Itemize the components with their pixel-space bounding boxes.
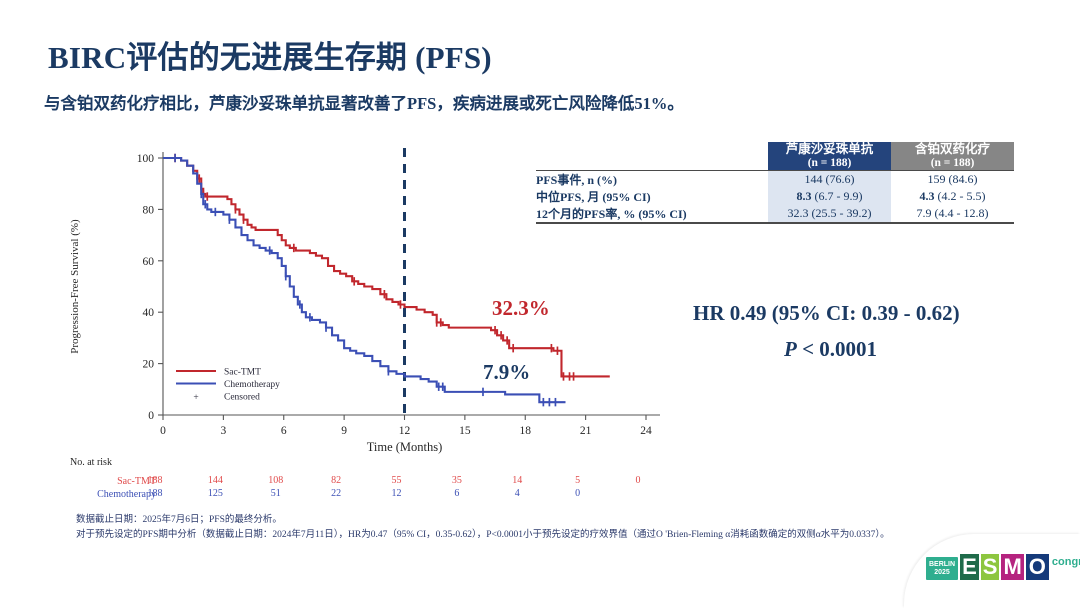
results-cell-sac: 32.3 (25.5 - 39.2)	[768, 205, 891, 223]
logo-letter-o: O	[1026, 554, 1049, 580]
results-row: 中位PFS, 月 (95% CI)8.3 (6.7 - 9.9)4.3 (4.2…	[536, 188, 1014, 205]
risk-value: 108	[268, 475, 283, 486]
y-tick-label: 80	[143, 204, 155, 216]
risk-value: 4	[515, 488, 520, 499]
results-header-blank	[536, 142, 768, 171]
x-axis-title: Time (Months)	[367, 440, 443, 454]
risk-value: 0	[575, 488, 580, 499]
logo-letter-e: E	[960, 554, 979, 580]
logo-congress-word: congress	[1052, 556, 1080, 568]
censored-plus-icon: +	[193, 393, 198, 403]
risk-value: 5	[575, 475, 580, 486]
y-tick-label: 40	[143, 307, 155, 319]
results-table: 芦康沙妥珠单抗(n = 188)含铂双药化疗(n = 188)PFS事件, n …	[536, 142, 1014, 224]
no-at-risk-table: Sac-TMT1881441088255351450Chemotherapy18…	[70, 475, 770, 501]
results-cell-sac: 144 (76.6)	[768, 171, 891, 189]
risk-table-title: No. at risk	[70, 457, 112, 468]
slide-root: BIRC评估的无进展生存期 (PFS) 与含铂双药化疗相比，芦康沙妥珠单抗显著改…	[0, 0, 1080, 608]
risk-value: 144	[208, 475, 223, 486]
results-row: PFS事件, n (%)144 (76.6)159 (84.6)	[536, 171, 1014, 189]
results-header-col-a: 芦康沙妥珠单抗(n = 188)	[768, 142, 891, 171]
risk-value: 0	[636, 475, 641, 486]
annotation-sac-12mo: 32.3%	[492, 296, 550, 321]
risk-value: 188	[148, 475, 163, 486]
risk-value: 35	[452, 475, 462, 486]
risk-row: Chemotherapy188125512212640	[70, 488, 770, 501]
x-tick-label: 12	[399, 425, 411, 437]
risk-value: 12	[392, 488, 402, 499]
x-tick-label: 18	[520, 425, 532, 437]
chart-legend: Sac-TMTChemotherapy+Censored	[176, 368, 280, 404]
y-tick-label: 20	[143, 359, 155, 371]
footnote-line-2: 对于预先设定的PFS期中分析（数据截止日期：2024年7月11日），HR为0.4…	[76, 528, 890, 543]
footnote-line-1: 数据截止日期：2025年7月6日；PFS的最终分析。	[76, 513, 890, 528]
x-tick-label: 15	[459, 425, 471, 437]
y-tick-label: 60	[143, 256, 155, 268]
risk-row: Sac-TMT1881441088255351450	[70, 475, 770, 488]
p-value-stat: P < 0.0001	[784, 337, 877, 362]
x-tick-label: 24	[640, 425, 652, 437]
x-tick-label: 6	[281, 425, 287, 437]
x-tick-label: 21	[580, 425, 592, 437]
col-b-name: 含铂双药化疗	[915, 142, 990, 156]
col-a-n: (n = 188)	[768, 157, 891, 171]
legend-label: Chemotherapy	[224, 380, 280, 390]
col-a-name: 芦康沙妥珠单抗	[786, 142, 874, 156]
results-row-label: 12个月的PFS率, % (95% CI)	[536, 205, 768, 223]
hazard-ratio-stat: HR 0.49 (95% CI: 0.39 - 0.62)	[693, 301, 960, 326]
results-cell-chemo: 159 (84.6)	[891, 171, 1014, 189]
chart-axis-labels: Time (Months)Progression-Free Survival (…	[69, 219, 442, 454]
logo-city: BERLIN	[929, 561, 955, 568]
results-cell-chemo: 7.9 (4.4 - 12.8)	[891, 205, 1014, 223]
risk-value: 82	[331, 475, 341, 486]
risk-value: 55	[392, 475, 402, 486]
x-tick-label: 9	[341, 425, 347, 437]
results-row-label: PFS事件, n (%)	[536, 171, 768, 189]
p-symbol: P	[784, 337, 797, 361]
risk-row-label: Chemotherapy	[70, 488, 156, 501]
risk-value: 125	[208, 488, 223, 499]
y-tick-label: 100	[137, 153, 155, 165]
risk-value: 6	[454, 488, 459, 499]
risk-value: 14	[512, 475, 522, 486]
p-value: < 0.0001	[797, 337, 877, 361]
y-tick-label: 0	[148, 410, 154, 422]
results-cell-chemo: 4.3 (4.2 - 5.5)	[891, 188, 1014, 205]
results-row-label: 中位PFS, 月 (95% CI)	[536, 188, 768, 205]
results-row: 12个月的PFS率, % (95% CI)32.3 (25.5 - 39.2)7…	[536, 205, 1014, 223]
results-header-col-b: 含铂双药化疗(n = 188)	[891, 142, 1014, 171]
footnotes: 数据截止日期：2025年7月6日；PFS的最终分析。 对于预先设定的PFS期中分…	[76, 513, 890, 542]
results-header-row: 芦康沙妥珠单抗(n = 188)含铂双药化疗(n = 188)	[536, 142, 1014, 171]
logo-letter-s: S	[981, 554, 1000, 580]
legend-label: Censored	[224, 393, 260, 403]
logo-letter-m: M	[1001, 554, 1023, 580]
logo-berlin-badge: BERLIN 2025	[926, 557, 958, 580]
x-tick-label: 3	[221, 425, 227, 437]
esmo-congress-logo: BERLIN 2025 E S M O congress	[926, 554, 1066, 598]
risk-row-label: Sac-TMT	[70, 475, 156, 488]
y-axis-title: Progression-Free Survival (%)	[69, 219, 81, 354]
risk-value: 188	[148, 488, 163, 499]
x-tick-label: 0	[160, 425, 166, 437]
legend-label: Sac-TMT	[224, 368, 261, 378]
risk-value: 51	[271, 488, 281, 499]
results-cell-sac: 8.3 (6.7 - 9.9)	[768, 188, 891, 205]
annotation-chemo-12mo: 7.9%	[483, 360, 530, 385]
risk-value: 22	[331, 488, 341, 499]
logo-year: 2025	[929, 569, 955, 576]
col-b-n: (n = 188)	[891, 157, 1014, 171]
